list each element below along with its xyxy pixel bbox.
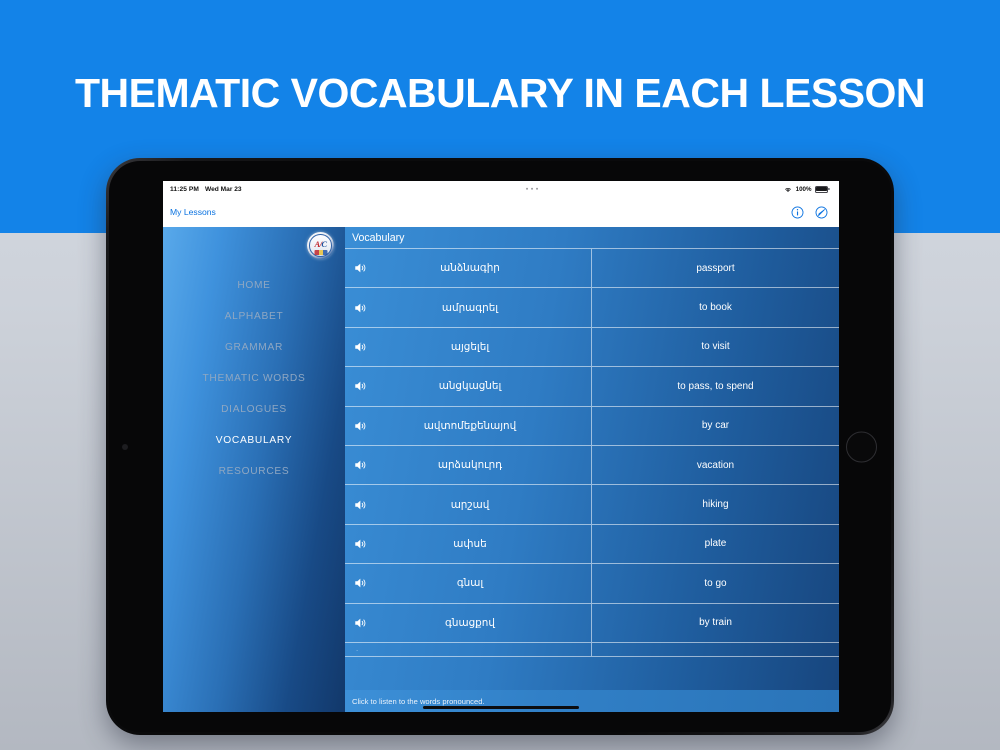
home-indicator[interactable] bbox=[423, 706, 579, 709]
sidebar-item-vocabulary[interactable]: VOCABULARY bbox=[163, 425, 345, 456]
vocabulary-term-cell[interactable]: անձնագիր bbox=[345, 249, 592, 287]
screenshot-root: THEMATIC VOCABULARY IN EACH LESSON 11:25… bbox=[0, 0, 1000, 750]
vocabulary-term-text: անձնագիր bbox=[345, 262, 591, 274]
vocabulary-row[interactable]: այցելելto visit bbox=[345, 328, 839, 367]
vocabulary-row[interactable]: անցկացնելto pass, to spend bbox=[345, 367, 839, 406]
vocabulary-definition-cell: passport bbox=[592, 249, 839, 287]
battery-percent: 100% bbox=[796, 186, 812, 193]
vocabulary-term-cell[interactable]: արձակուրդ bbox=[345, 446, 592, 484]
vocabulary-row[interactable]: անձնագիրpassport bbox=[345, 249, 839, 288]
vocabulary-row[interactable]: ամրագրելto book bbox=[345, 288, 839, 327]
vocabulary-term-text: ավտոմեքենայով bbox=[345, 420, 591, 432]
multitask-dots-icon[interactable] bbox=[526, 188, 538, 190]
wifi-icon bbox=[784, 186, 792, 193]
vocabulary-row[interactable]: արշավhiking bbox=[345, 485, 839, 524]
speaker-icon[interactable] bbox=[354, 459, 368, 472]
ios-status-bar: 11:25 PM Wed Mar 23 100% bbox=[163, 181, 839, 197]
vocabulary-definition-cell: plate bbox=[592, 525, 839, 563]
compose-circle-icon[interactable] bbox=[815, 206, 828, 219]
vocabulary-term-cell[interactable]: ավտոմեքենայով bbox=[345, 407, 592, 445]
battery-icon bbox=[815, 186, 830, 193]
status-date: Wed Mar 23 bbox=[205, 186, 242, 193]
content-panel: Vocabulary անձնագիրpassportամրագրելto bo… bbox=[345, 227, 839, 712]
page-title: Vocabulary bbox=[345, 227, 839, 249]
app-logo[interactable]: A/C bbox=[307, 232, 334, 259]
sidebar: A/C HOMEALPHABETGRAMMARTHEMATIC WORDSDIA… bbox=[163, 227, 345, 712]
vocabulary-definition-cell: to visit bbox=[592, 328, 839, 366]
sidebar-item-dialogues[interactable]: DIALOGUES bbox=[163, 394, 345, 425]
sidebar-item-resources[interactable]: RESOURCES bbox=[163, 456, 345, 487]
vocabulary-definition-cell: to go bbox=[592, 564, 839, 602]
status-bar-left: 11:25 PM Wed Mar 23 bbox=[163, 181, 345, 197]
home-button[interactable] bbox=[846, 431, 877, 462]
speaker-icon[interactable] bbox=[354, 380, 368, 393]
front-camera-icon bbox=[122, 444, 128, 450]
vocabulary-row[interactable]: գնալto go bbox=[345, 564, 839, 603]
speaker-icon[interactable] bbox=[354, 301, 368, 314]
vocabulary-definition-cell: by car bbox=[592, 407, 839, 445]
vocabulary-term-text: այցելել bbox=[345, 341, 591, 353]
vocabulary-term-cell[interactable]: այցելել bbox=[345, 328, 592, 366]
vocabulary-term-text: արշավ bbox=[345, 499, 591, 511]
speaker-icon[interactable] bbox=[354, 498, 368, 511]
speaker-icon[interactable] bbox=[354, 577, 368, 590]
vocabulary-definition-cell: to book bbox=[592, 288, 839, 326]
vocabulary-term-text: գնացքով bbox=[345, 617, 591, 629]
back-link-my-lessons[interactable]: My Lessons bbox=[170, 207, 216, 217]
vocabulary-row[interactable]: արձակուրդvacation bbox=[345, 446, 839, 485]
nav-bar-right bbox=[345, 197, 839, 227]
speaker-icon[interactable] bbox=[354, 537, 368, 550]
vocabulary-term-text: գնալ bbox=[345, 577, 591, 589]
sidebar-item-thematic-words[interactable]: THEMATIC WORDS bbox=[163, 363, 345, 394]
vocabulary-term-cell[interactable]: գնացքով bbox=[345, 604, 592, 642]
vocabulary-row[interactable]: գնացքովby train bbox=[345, 604, 839, 643]
sidebar-menu: HOMEALPHABETGRAMMARTHEMATIC WORDSDIALOGU… bbox=[163, 270, 345, 487]
app-body: A/C HOMEALPHABETGRAMMARTHEMATIC WORDSDIA… bbox=[163, 227, 839, 712]
vocabulary-term-text: արձակուրդ bbox=[345, 459, 591, 471]
vocabulary-term-cell[interactable]: . bbox=[345, 643, 592, 656]
sidebar-item-grammar[interactable]: GRAMMAR bbox=[163, 332, 345, 363]
vocabulary-term-text: անցկացնել bbox=[345, 380, 591, 392]
tablet-device: 11:25 PM Wed Mar 23 100% bbox=[106, 158, 894, 735]
vocabulary-row-partial[interactable]: . bbox=[345, 643, 839, 657]
vocabulary-term-cell[interactable]: անցկացնել bbox=[345, 367, 592, 405]
speaker-icon[interactable] bbox=[354, 340, 368, 353]
vocabulary-definition-cell bbox=[592, 643, 839, 656]
vocabulary-term-cell[interactable]: գնալ bbox=[345, 564, 592, 602]
tablet-screen: 11:25 PM Wed Mar 23 100% bbox=[163, 181, 839, 712]
footer-hint: Click to listen to the words pronounced. bbox=[345, 690, 839, 712]
vocabulary-definition-cell: to pass, to spend bbox=[592, 367, 839, 405]
vocabulary-term-text: ամրագրել bbox=[345, 302, 591, 314]
vocabulary-definition-cell: vacation bbox=[592, 446, 839, 484]
vocabulary-definition-cell: hiking bbox=[592, 485, 839, 523]
vocabulary-term-cell[interactable]: արշավ bbox=[345, 485, 592, 523]
nav-bar-left: My Lessons bbox=[163, 197, 345, 227]
status-bar-center bbox=[345, 181, 719, 197]
sidebar-item-alphabet[interactable]: ALPHABET bbox=[163, 301, 345, 332]
vocabulary-table: անձնագիրpassportամրագրելto bookայցելելto… bbox=[345, 249, 839, 690]
speaker-icon[interactable] bbox=[354, 262, 368, 275]
sidebar-item-home[interactable]: HOME bbox=[163, 270, 345, 301]
vocabulary-term-text: ափսե bbox=[345, 538, 591, 550]
vocabulary-term-text: . bbox=[345, 645, 591, 653]
info-circle-icon[interactable] bbox=[791, 206, 804, 219]
status-bar-right: 100% bbox=[719, 181, 839, 197]
vocabulary-row[interactable]: ափսեplate bbox=[345, 525, 839, 564]
vocabulary-term-cell[interactable]: ափսե bbox=[345, 525, 592, 563]
speaker-icon[interactable] bbox=[354, 616, 368, 629]
status-time: 11:25 PM bbox=[170, 186, 199, 193]
vocabulary-row[interactable]: ավտոմեքենայովby car bbox=[345, 407, 839, 446]
vocabulary-term-cell[interactable]: ամրագրել bbox=[345, 288, 592, 326]
vocabulary-definition-cell: by train bbox=[592, 604, 839, 642]
banner-headline: THEMATIC VOCABULARY IN EACH LESSON bbox=[0, 70, 1000, 117]
speaker-icon[interactable] bbox=[354, 419, 368, 432]
app-nav-bar: My Lessons bbox=[163, 197, 839, 227]
